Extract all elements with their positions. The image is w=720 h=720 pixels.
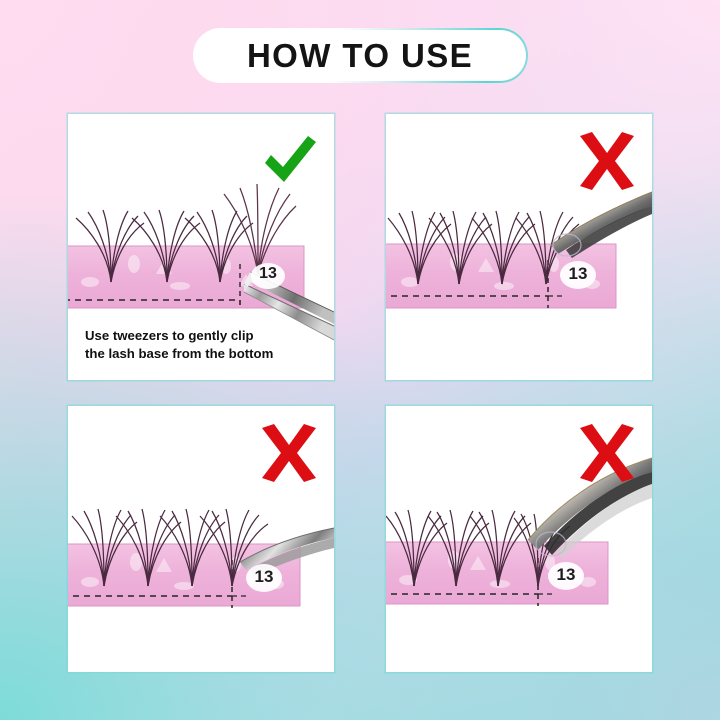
panel-caption: Use tweezers to gently clip the lash bas… — [85, 327, 328, 364]
panel-wrong-2: 13 — [68, 406, 334, 672]
header: HOW TO USE — [0, 28, 720, 83]
strip-size-value: 13 — [246, 567, 282, 587]
red-cross-mark — [258, 422, 320, 484]
how-to-use-infographic: HOW TO USE — [0, 0, 720, 720]
panel-wrong-1: 13 — [386, 114, 652, 380]
caption-line-1: Use tweezers to gently clip — [85, 327, 328, 346]
strip-size-value: 13 — [548, 565, 584, 585]
page-title: HOW TO USE — [247, 39, 473, 72]
caption-line-2: the lash base from the bottom — [85, 345, 328, 364]
strip-size-value: 13 — [250, 265, 286, 283]
panel-correct: 13 Use tweezers to gently clip the lash … — [68, 114, 334, 380]
green-check-mark — [258, 130, 320, 192]
panel-grid: 13 Use tweezers to gently clip the lash … — [68, 114, 652, 672]
panel-wrong-3: 13 — [386, 406, 652, 672]
red-cross-mark — [576, 130, 638, 192]
strip-size-value: 13 — [560, 264, 596, 284]
title-pill: HOW TO USE — [193, 28, 528, 83]
red-cross-mark — [576, 422, 638, 484]
